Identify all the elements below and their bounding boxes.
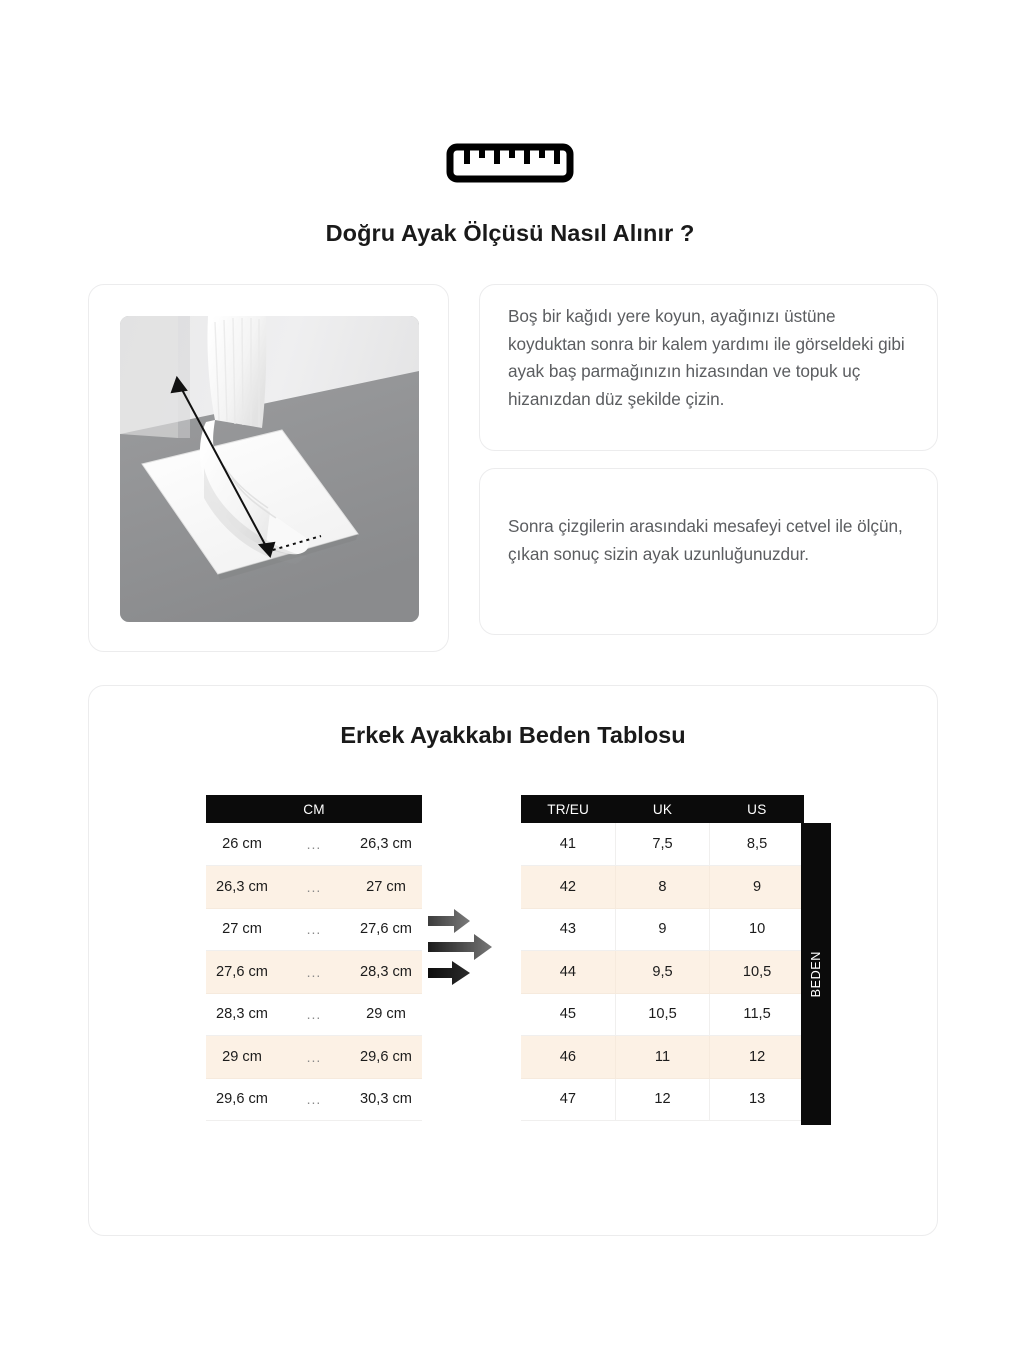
table-row: 26 cm ... 26,3 cm (206, 823, 422, 866)
cell-tr-eu: 47 (521, 1078, 615, 1121)
cell-tr-eu: 44 (521, 951, 615, 994)
table-row: 27,6 cm ... 28,3 cm (206, 951, 422, 994)
cm-to: 28,3 cm (350, 951, 422, 994)
instruction-text-1: Boş bir kağıdı yere koyun, ayağınızı üst… (508, 303, 911, 413)
table-row: 29,6 cm ... 30,3 cm (206, 1078, 422, 1121)
three-right-arrows-icon (426, 900, 518, 992)
cell-us: 8,5 (710, 823, 804, 866)
table-row: 26,3 cm ... 27 cm (206, 866, 422, 909)
table-row: 28,3 cm ... 29 cm (206, 993, 422, 1036)
page-title: Doğru Ayak Ölçüsü Nasıl Alınır ? (0, 220, 1020, 247)
table-row: 27 cm ... 27,6 cm (206, 908, 422, 951)
cm-header-cell: CM (206, 795, 422, 823)
cell-us: 9 (710, 866, 804, 909)
cm-to: 29,6 cm (350, 1036, 422, 1079)
header-tr-eu: TR/EU (521, 795, 615, 823)
cell-uk: 12 (615, 1078, 709, 1121)
table-row: 42 8 9 (521, 866, 804, 909)
cm-separator: ... (278, 823, 350, 866)
beden-label-text: BEDEN (809, 951, 823, 997)
ruler-icon-container (0, 143, 1020, 183)
cm-from: 27,6 cm (206, 951, 278, 994)
cm-to: 27,6 cm (350, 908, 422, 951)
header-us: US (710, 795, 804, 823)
illustration-card (88, 284, 449, 652)
cm-from: 26,3 cm (206, 866, 278, 909)
table-row: 29 cm ... 29,6 cm (206, 1036, 422, 1079)
ruler-icon (446, 143, 574, 183)
cm-to: 27 cm (350, 866, 422, 909)
cell-tr-eu: 41 (521, 823, 615, 866)
cell-tr-eu: 42 (521, 866, 615, 909)
cm-to: 30,3 cm (350, 1078, 422, 1121)
foot-measurement-illustration (120, 316, 419, 622)
cm-separator: ... (278, 1036, 350, 1079)
cm-separator: ... (278, 993, 350, 1036)
instruction-card-1: Boş bir kağıdı yere koyun, ayağınızı üst… (479, 284, 938, 451)
table-row: 47 12 13 (521, 1078, 804, 1121)
cm-from: 28,3 cm (206, 993, 278, 1036)
cell-tr-eu: 43 (521, 908, 615, 951)
cm-separator: ... (278, 1078, 350, 1121)
cm-from: 29 cm (206, 1036, 278, 1079)
cm-from: 29,6 cm (206, 1078, 278, 1121)
cm-to: 26,3 cm (350, 823, 422, 866)
foot-measurement-photo (120, 316, 419, 622)
beden-vertical-label: BEDEN (801, 823, 831, 1125)
size-table-card: Erkek Ayakkabı Beden Tablosu CM 26 cm ..… (88, 685, 938, 1236)
eu-size-table: TR/EU UK US 41 7,5 8,5 42 8 9 (521, 795, 804, 1121)
instruction-text-2: Sonra çizgilerin arasındaki mesafeyi cet… (508, 513, 911, 568)
table-row: 43 9 10 (521, 908, 804, 951)
size-tables-region: CM 26 cm ... 26,3 cm 26,3 cm ... 27 cm (89, 795, 939, 1125)
cell-uk: 9 (615, 908, 709, 951)
size-guide-page: Doğru Ayak Ölçüsü Nasıl Alınır ? (0, 0, 1020, 1360)
cell-us: 13 (710, 1078, 804, 1121)
eu-table-header-row: TR/EU UK US (521, 795, 804, 823)
cell-uk: 7,5 (615, 823, 709, 866)
cell-uk: 11 (615, 1036, 709, 1079)
table-row: 45 10,5 11,5 (521, 993, 804, 1036)
cell-us: 12 (710, 1036, 804, 1079)
cm-table-header-row: CM (206, 795, 422, 823)
cell-tr-eu: 45 (521, 993, 615, 1036)
cm-separator: ... (278, 866, 350, 909)
cell-uk: 10,5 (615, 993, 709, 1036)
table-row: 46 11 12 (521, 1036, 804, 1079)
cm-from: 27 cm (206, 908, 278, 951)
cell-us: 10 (710, 908, 804, 951)
instruction-card-2: Sonra çizgilerin arasındaki mesafeyi cet… (479, 468, 938, 635)
cm-separator: ... (278, 908, 350, 951)
cm-from: 26 cm (206, 823, 278, 866)
cell-us: 10,5 (710, 951, 804, 994)
cell-us: 11,5 (710, 993, 804, 1036)
size-table-title: Erkek Ayakkabı Beden Tablosu (89, 722, 937, 749)
table-row: 41 7,5 8,5 (521, 823, 804, 866)
table-row: 44 9,5 10,5 (521, 951, 804, 994)
cell-uk: 8 (615, 866, 709, 909)
cm-size-table: CM 26 cm ... 26,3 cm 26,3 cm ... 27 cm (206, 795, 422, 1121)
cm-separator: ... (278, 951, 350, 994)
cell-uk: 9,5 (615, 951, 709, 994)
header-uk: UK (615, 795, 709, 823)
cell-tr-eu: 46 (521, 1036, 615, 1079)
cm-to: 29 cm (350, 993, 422, 1036)
